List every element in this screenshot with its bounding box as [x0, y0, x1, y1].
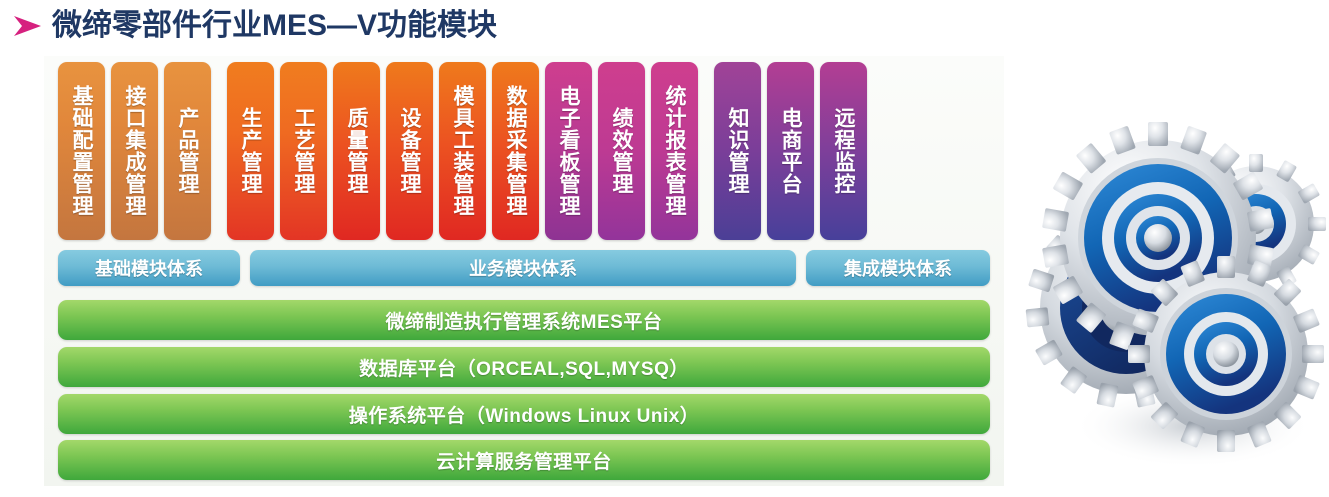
system-bar[interactable]: 基础模块体系 — [58, 250, 240, 286]
module-column[interactable]: 设备管理 — [386, 62, 433, 240]
module-column[interactable]: 模具工装管理 — [439, 62, 486, 240]
module-column-label: 统计报表管理 — [663, 85, 686, 217]
platform-bar-label: 操作系统平台（Windows Linux Unix） — [349, 401, 700, 428]
module-columns: 基础配置管理接口集成管理产品管理生产管理工艺管理质量管理设备管理模具工装管理数据… — [58, 62, 873, 240]
platform-bar-label: 微缔制造执行管理系统MES平台 — [386, 307, 663, 334]
platform-bar-database[interactable]: 数据库平台（ORCEAL,SQL,MYSQ） — [58, 347, 990, 387]
module-column[interactable]: 接口集成管理 — [111, 62, 158, 240]
module-column-label: 质量管理 — [345, 107, 368, 195]
module-column[interactable]: 数据采集管理 — [492, 62, 539, 240]
module-column[interactable]: 电商平台 — [767, 62, 814, 240]
platform-bar-os[interactable]: 操作系统平台（Windows Linux Unix） — [58, 394, 990, 434]
system-bar[interactable]: 业务模块体系 — [250, 250, 796, 286]
module-column-label: 产品管理 — [176, 107, 199, 195]
system-bar-label: 基础模块体系 — [95, 255, 203, 281]
platform-bar-mes[interactable]: 微缔制造执行管理系统MES平台 — [58, 300, 990, 340]
gears-svg — [1018, 96, 1329, 497]
page-title: 微缔零部件行业MES—V功能模块 — [52, 9, 497, 43]
slide-root: 微缔零部件行业MES—V功能模块 基础配置管理接口集成管理产品管理生产管理工艺管… — [0, 0, 1329, 497]
module-column[interactable]: 质量管理 — [333, 62, 380, 240]
module-column[interactable]: 工艺管理 — [280, 62, 327, 240]
module-column-label: 模具工装管理 — [451, 85, 474, 217]
module-column[interactable]: 生产管理 — [227, 62, 274, 240]
module-column-label: 电商平台 — [779, 107, 802, 195]
module-column[interactable]: 电子看板管理 — [545, 62, 592, 240]
module-column[interactable]: 统计报表管理 — [651, 62, 698, 240]
system-bar-row: 基础模块体系业务模块体系集成模块体系 — [58, 250, 990, 286]
platform-bar-label: 云计算服务管理平台 — [436, 447, 612, 474]
module-column-label: 基础配置管理 — [70, 85, 93, 217]
module-column-label: 工艺管理 — [292, 107, 315, 195]
module-column-label: 接口集成管理 — [123, 85, 146, 217]
module-column-label: 生产管理 — [239, 107, 262, 195]
system-bar[interactable]: 集成模块体系 — [806, 250, 990, 286]
module-column-label: 远程监控 — [832, 107, 855, 195]
system-bar-label: 业务模块体系 — [469, 255, 577, 281]
module-column-label: 电子看板管理 — [557, 85, 580, 217]
module-column[interactable]: 远程监控 — [820, 62, 867, 240]
module-column-label: 数据采集管理 — [504, 85, 527, 217]
page-title-row: 微缔零部件行业MES—V功能模块 — [0, 4, 497, 48]
system-bar-label: 集成模块体系 — [844, 255, 952, 281]
module-column[interactable]: 绩效管理 — [598, 62, 645, 240]
platform-bar-label: 数据库平台（ORCEAL,SQL,MYSQ） — [359, 354, 689, 381]
gear-front-bottom — [1128, 256, 1324, 452]
module-column-label: 知识管理 — [726, 107, 749, 195]
module-column[interactable]: 基础配置管理 — [58, 62, 105, 240]
module-column[interactable]: 知识管理 — [714, 62, 761, 240]
three-gears-image — [1018, 96, 1329, 497]
module-column-label: 绩效管理 — [610, 107, 633, 195]
module-column[interactable]: 产品管理 — [164, 62, 211, 240]
platform-bar-cloud[interactable]: 云计算服务管理平台 — [58, 440, 990, 480]
arrow-right-icon — [8, 11, 46, 41]
module-column-label: 设备管理 — [398, 107, 421, 195]
